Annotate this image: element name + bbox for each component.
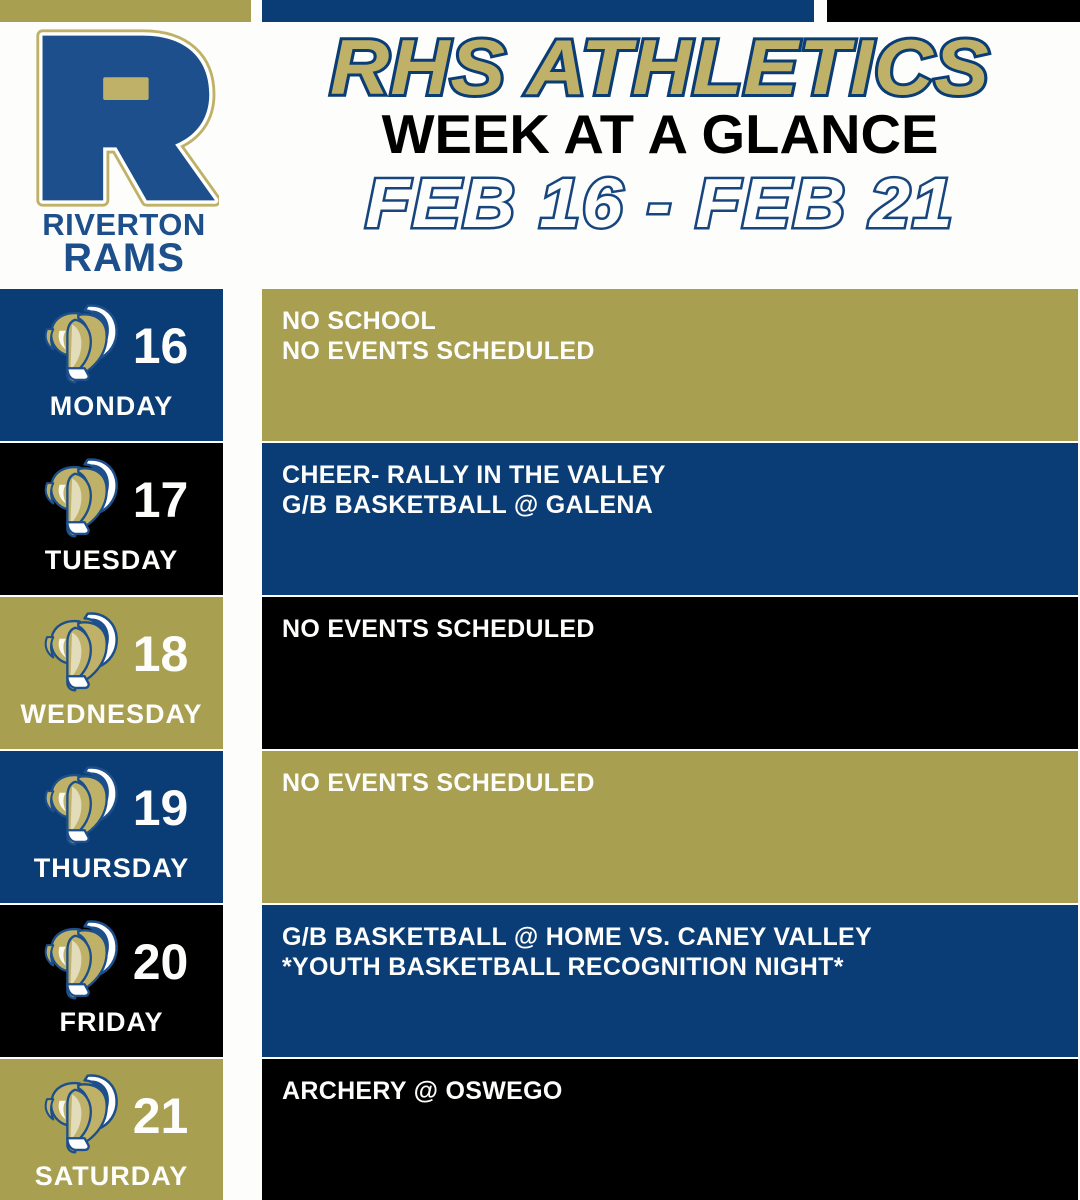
day-card-top: 20 [0, 905, 223, 1011]
day-card-top: 16 [0, 289, 223, 395]
header: RIVERTON RAMS RHS ATHLETICS WEEK AT A GL… [0, 22, 1080, 284]
ram-mascot-icon [35, 763, 131, 849]
day-name: MONDAY [50, 393, 174, 420]
poster-canvas: RIVERTON RAMS RHS ATHLETICS WEEK AT A GL… [0, 0, 1080, 1200]
day-name: FRIDAY [59, 1009, 163, 1036]
day-card-top: 17 [0, 443, 223, 549]
page-title: RHS ATHLETICS [219, 28, 1080, 108]
page-subtitle: WEEK AT A GLANCE [232, 106, 1080, 164]
schedule-list: 16MONDAYNO SCHOOLNO EVENTS SCHEDULED 17T… [0, 289, 1080, 1200]
day-card-tuesday: 17TUESDAY [0, 443, 223, 595]
event-line: G/B BASKETBALL @ HOME VS. CANEY VALLEY [282, 923, 1078, 953]
school-logo: RIVERTON RAMS [18, 28, 230, 290]
ram-mascot-icon [35, 455, 131, 541]
logo-line-riverton: RIVERTON [42, 210, 206, 239]
ram-mascot-icon [35, 917, 131, 1003]
ram-mascot-icon [35, 1071, 131, 1157]
event-line: NO EVENTS SCHEDULED [282, 337, 1078, 367]
day-number: 20 [133, 937, 189, 987]
riverton-r-monogram-icon [29, 28, 219, 208]
top-accent-bar-blue [262, 0, 814, 22]
top-accent-bar-black [827, 0, 1080, 22]
event-bar-saturday: ARCHERY @ OSWEGO [262, 1059, 1078, 1200]
schedule-row: 17TUESDAYCHEER- RALLY IN THE VALLEYG/B B… [0, 443, 1080, 595]
day-name: SATURDAY [35, 1163, 189, 1190]
event-bar-tuesday: CHEER- RALLY IN THE VALLEYG/B BASKETBALL… [262, 443, 1078, 595]
event-line: NO SCHOOL [282, 307, 1078, 337]
ram-mascot-icon [35, 609, 131, 695]
event-line: NO EVENTS SCHEDULED [282, 769, 1078, 799]
day-name: THURSDAY [34, 855, 190, 882]
day-number: 17 [133, 475, 189, 525]
day-card-saturday: 21SATURDAY [0, 1059, 223, 1200]
schedule-row: 16MONDAYNO SCHOOLNO EVENTS SCHEDULED [0, 289, 1080, 441]
event-bar-friday: G/B BASKETBALL @ HOME VS. CANEY VALLEY*Y… [262, 905, 1078, 1057]
event-bar-wednesday: NO EVENTS SCHEDULED [262, 597, 1078, 749]
event-bar-monday: NO SCHOOLNO EVENTS SCHEDULED [262, 289, 1078, 441]
day-name: WEDNESDAY [20, 701, 202, 728]
day-number: 19 [133, 783, 189, 833]
date-range: FEB 16 - FEB 21 [223, 167, 1080, 241]
day-number: 16 [133, 321, 189, 371]
day-number: 18 [133, 629, 189, 679]
event-line: CHEER- RALLY IN THE VALLEY [282, 461, 1078, 491]
schedule-row: 20FRIDAYG/B BASKETBALL @ HOME VS. CANEY … [0, 905, 1080, 1057]
logo-wordmark: RIVERTON RAMS [42, 210, 206, 277]
event-line: ARCHERY @ OSWEGO [282, 1077, 1078, 1107]
title-block: RHS ATHLETICS WEEK AT A GLANCE FEB 16 - … [240, 22, 1080, 306]
event-bar-thursday: NO EVENTS SCHEDULED [262, 751, 1078, 903]
day-card-top: 21 [0, 1059, 223, 1165]
ram-mascot-icon [35, 301, 131, 387]
schedule-row: 18WEDNESDAYNO EVENTS SCHEDULED [0, 597, 1080, 749]
day-card-top: 18 [0, 597, 223, 703]
day-number: 21 [133, 1091, 189, 1141]
day-name: TUESDAY [45, 547, 179, 574]
top-accent-bar-gold [0, 0, 251, 22]
day-card-thursday: 19THURSDAY [0, 751, 223, 903]
day-card-friday: 20FRIDAY [0, 905, 223, 1057]
logo-line-rams: RAMS [42, 239, 206, 277]
day-card-monday: 16MONDAY [0, 289, 223, 441]
day-card-wednesday: 18WEDNESDAY [0, 597, 223, 749]
event-line: NO EVENTS SCHEDULED [282, 615, 1078, 645]
day-card-top: 19 [0, 751, 223, 857]
event-line: G/B BASKETBALL @ GALENA [282, 491, 1078, 521]
event-line: *YOUTH BASKETBALL RECOGNITION NIGHT* [282, 953, 1078, 983]
schedule-row: 19THURSDAYNO EVENTS SCHEDULED [0, 751, 1080, 903]
schedule-row: 21SATURDAYARCHERY @ OSWEGO [0, 1059, 1080, 1200]
